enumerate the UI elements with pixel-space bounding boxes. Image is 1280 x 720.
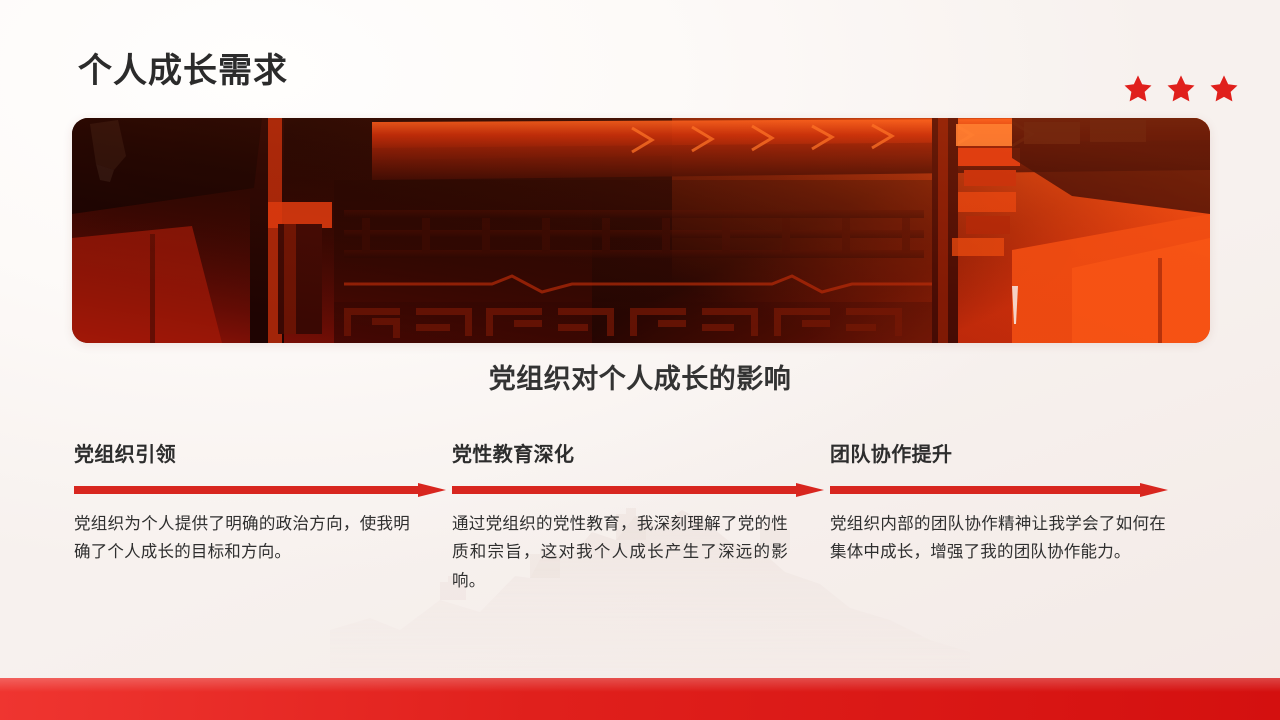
content-column: 党性教育深化 通过党组织的党性教育，我深刻理解了党的性质和宗旨，这对我个人成长产… [452, 444, 830, 595]
star-icon [1208, 73, 1240, 105]
footer-band [0, 678, 1280, 720]
arrow-right-icon [452, 482, 806, 498]
content-column: 党组织引领 党组织为个人提供了明确的政治方向，使我明确了个人成长的目标和方向。 [74, 444, 452, 595]
star-rating-decoration [1122, 73, 1240, 105]
content-column: 团队协作提升 党组织内部的团队协作精神让我学会了如何在集体中成长，增强了我的团队… [830, 444, 1208, 595]
banner-image-canvas [72, 118, 1210, 343]
column-title: 党组织引领 [74, 444, 428, 466]
column-body: 通过党组织的党性教育，我深刻理解了党的性质和宗旨，这对我个人成长产生了深远的影响… [452, 510, 788, 595]
banner-image [72, 118, 1210, 343]
page-title: 个人成长需求 [78, 53, 288, 90]
column-title: 党性教育深化 [452, 444, 806, 466]
arrow-right-icon [74, 482, 428, 498]
slide-root: 个人成长需求 [0, 0, 1280, 720]
column-title: 团队协作提升 [830, 444, 1184, 466]
star-icon [1122, 73, 1154, 105]
arrow-right-icon [830, 482, 1184, 498]
content-columns: 党组织引领 党组织为个人提供了明确的政治方向，使我明确了个人成长的目标和方向。 … [74, 444, 1208, 595]
column-body: 党组织内部的团队协作精神让我学会了如何在集体中成长，增强了我的团队协作能力。 [830, 510, 1166, 567]
star-icon [1165, 73, 1197, 105]
footer-band-highlight [0, 678, 1280, 692]
column-body: 党组织为个人提供了明确的政治方向，使我明确了个人成长的目标和方向。 [74, 510, 410, 567]
section-subtitle: 党组织对个人成长的影响 [0, 357, 1280, 396]
